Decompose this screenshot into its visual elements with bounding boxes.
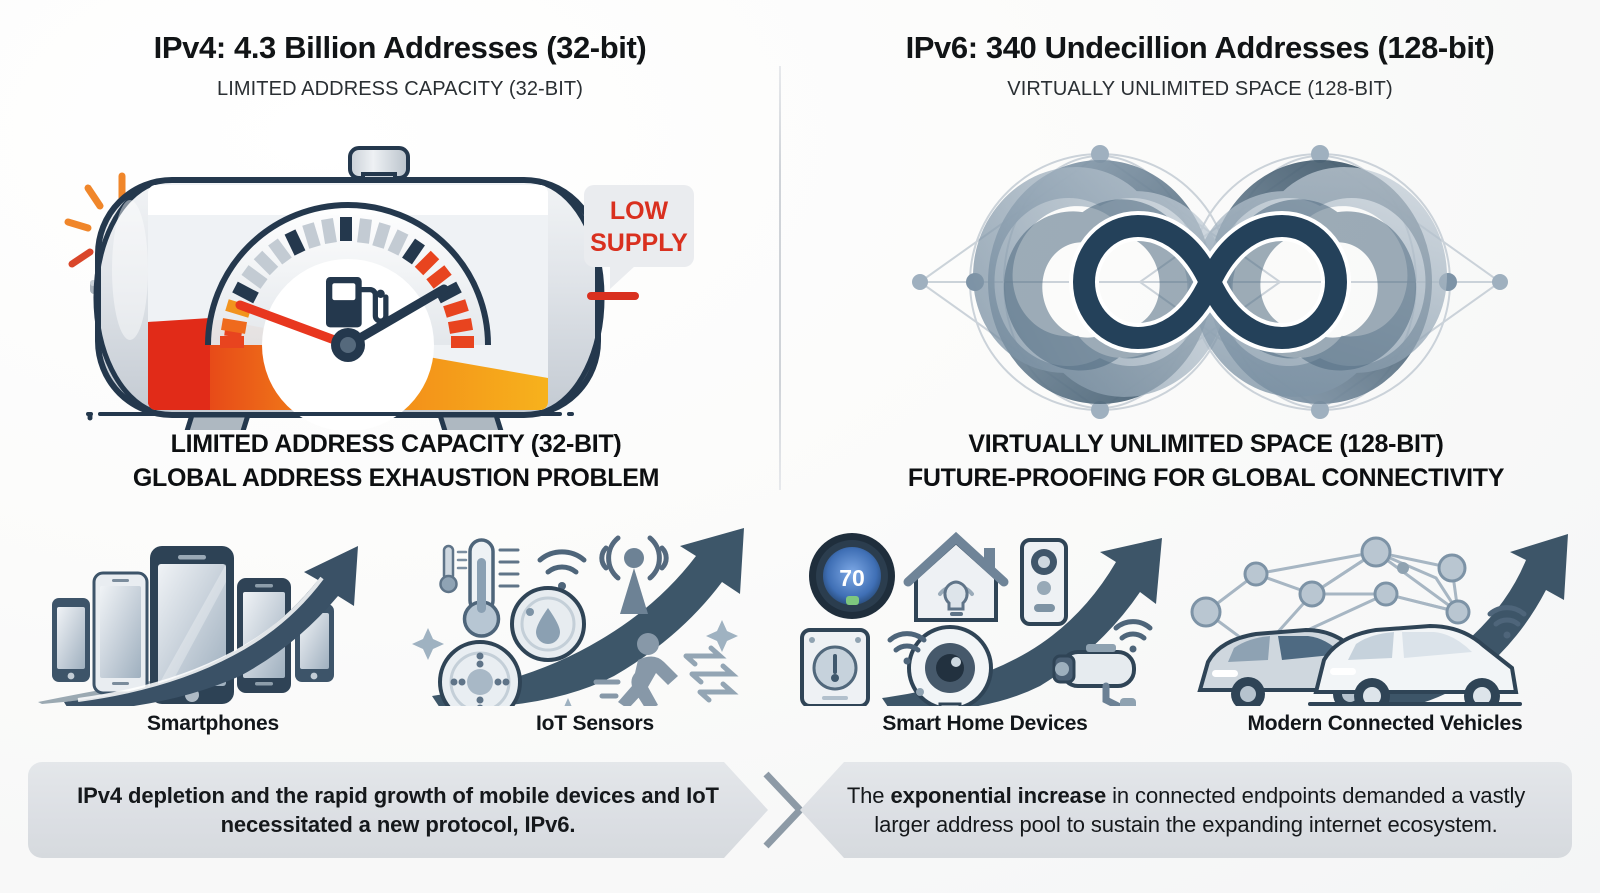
fuel-tank-gauge-illustration: LOW SUPPLY xyxy=(60,140,760,430)
banner-right: The exponential increase in connected en… xyxy=(800,762,1572,858)
sensors-growth-arrow-icon xyxy=(400,516,790,706)
panel-divider xyxy=(779,66,781,490)
left-panel-caption: LIMITED ADDRESS CAPACITY (32-BIT) GLOBAL… xyxy=(6,428,786,495)
right-caption-line-2: FUTURE-PROOFING FOR GLOBAL CONNECTIVITY xyxy=(816,462,1596,496)
right-subtitle: VIRTUALLY UNLIMITED SPACE (128-BIT) xyxy=(810,78,1590,101)
right-panel-caption: VIRTUALLY UNLIMITED SPACE (128-BIT) FUTU… xyxy=(816,428,1596,495)
motion-sensor-icon xyxy=(440,642,520,706)
smart-switch-icon xyxy=(802,630,868,706)
banner-right-bold: exponential increase xyxy=(890,783,1106,808)
group-label-smart-home: Smart Home Devices xyxy=(790,712,1180,736)
infographic-canvas: IPv4: 4.3 Billion Addresses (32-bit) LIM… xyxy=(0,0,1600,893)
doorbell-camera-icon xyxy=(1022,540,1066,624)
right-panel-header: IPv6: 340 Undecillion Addresses (128-bit… xyxy=(810,0,1590,101)
group-label-smartphones: Smartphones xyxy=(18,712,408,736)
left-caption-line-1: LIMITED ADDRESS CAPACITY (32-BIT) xyxy=(6,428,786,462)
left-title: IPv4: 4.3 Billion Addresses (32-bit) xyxy=(10,30,790,66)
tank-ground-line xyxy=(60,408,760,420)
thermometer-large-icon xyxy=(465,540,519,636)
group-vehicles: Modern Connected Vehicles xyxy=(1190,516,1580,756)
group-smartphones: Smartphones xyxy=(18,516,408,756)
banner-right-text: The exponential increase in connected en… xyxy=(826,781,1546,839)
vehicles-network-arrow-icon xyxy=(1190,516,1580,706)
summary-banner: IPv4 depletion and the rapid growth of m… xyxy=(0,762,1600,870)
group-label-vehicles: Modern Connected Vehicles xyxy=(1190,712,1580,736)
group-iot-sensors: IoT Sensors xyxy=(400,516,790,756)
low-supply-line1: LOW xyxy=(610,197,669,225)
right-caption-line-1: VIRTUALLY UNLIMITED SPACE (128-BIT) xyxy=(816,428,1596,462)
wifi-icon xyxy=(540,552,584,590)
group-smart-home: 70 xyxy=(790,516,1180,756)
wifi-icon-2 xyxy=(1116,622,1150,653)
water-sensor-icon xyxy=(512,588,584,660)
thermostat-icon: 70 xyxy=(809,533,895,619)
low-supply-line2: SUPPLY xyxy=(590,229,688,257)
thermostat-value: 70 xyxy=(839,565,865,591)
right-title: IPv6: 340 Undecillion Addresses (128-bit… xyxy=(810,30,1590,66)
phones-growth-arrow-icon xyxy=(18,516,408,706)
smart-home-growth-arrow-icon: 70 xyxy=(790,516,1180,706)
banner-left: IPv4 depletion and the rapid growth of m… xyxy=(28,762,768,858)
infinity-illustration xyxy=(860,132,1560,432)
thermometer-small-icon xyxy=(441,546,467,592)
left-subtitle: LIMITED ADDRESS CAPACITY (32-BIT) xyxy=(10,78,790,101)
red-dash-marker xyxy=(587,292,639,300)
left-panel-header: IPv4: 4.3 Billion Addresses (32-bit) LIM… xyxy=(10,0,790,101)
left-caption-line-2: GLOBAL ADDRESS EXHAUSTION PROBLEM xyxy=(6,462,786,496)
motion-arrows xyxy=(686,648,732,700)
banner-right-prefix: The xyxy=(847,783,891,808)
group-label-iot-sensors: IoT Sensors xyxy=(400,712,790,736)
banner-left-text: IPv4 depletion and the rapid growth of m… xyxy=(54,781,742,839)
smart-home-icon xyxy=(908,538,1004,620)
